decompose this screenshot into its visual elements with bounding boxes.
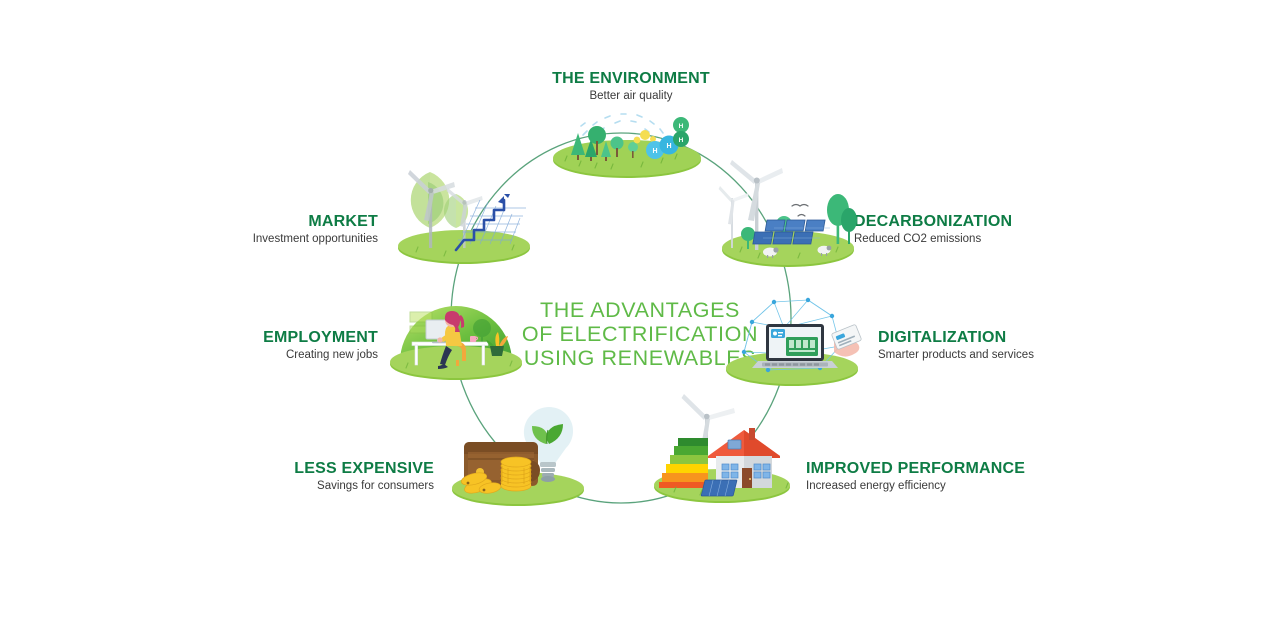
- label-digitalization: DIGITALIZATION Smarter products and serv…: [878, 328, 1034, 363]
- efficient-house-energy-rating-icon: [650, 388, 800, 508]
- label-less-expensive-title: LESS EXPENSIVE: [200, 459, 434, 478]
- label-improved-performance: IMPROVED PERFORMANCE Increased energy ef…: [806, 459, 1025, 494]
- label-digitalization-title: DIGITALIZATION: [878, 328, 1034, 347]
- scene-market: [392, 160, 542, 268]
- label-market-subtitle: Investment opportunities: [170, 232, 378, 247]
- label-less-expensive: LESS EXPENSIVE Savings for consumers: [200, 459, 434, 494]
- label-decarbonization-title: DECARBONIZATION: [854, 212, 1012, 231]
- person-at-desk-icon: [384, 284, 534, 386]
- label-improved-performance-title: IMPROVED PERFORMANCE: [806, 459, 1025, 478]
- infographic-canvas: THE ADVANTAGES OF ELECTRIFICATION USING …: [0, 0, 1280, 619]
- label-digitalization-subtitle: Smarter products and services: [878, 348, 1034, 363]
- scene-improved-performance: [650, 388, 800, 508]
- label-environment-title: THE ENVIRONMENT: [451, 69, 811, 88]
- svg-text:H: H: [679, 123, 684, 130]
- forest-hydrogen-scene-icon: H H H H: [545, 105, 710, 180]
- scene-employment: [384, 284, 534, 386]
- label-decarbonization-subtitle: Reduced CO2 emissions: [854, 232, 1012, 247]
- wind-turbine-solar-farm-icon: [718, 158, 858, 273]
- svg-text:H: H: [679, 137, 684, 144]
- wallet-coins-lightbulb-icon: [446, 400, 596, 510]
- label-market: MARKET Investment opportunities: [170, 212, 378, 247]
- scene-digitalization: [722, 288, 872, 388]
- label-employment: EMPLOYMENT Creating new jobs: [180, 328, 378, 363]
- wind-turbines-growth-chart-icon: [392, 160, 542, 268]
- label-improved-performance-subtitle: Increased energy efficiency: [806, 479, 1025, 494]
- scene-decarbonization: [718, 158, 858, 273]
- label-environment: THE ENVIRONMENT Better air quality: [451, 69, 811, 104]
- label-market-title: MARKET: [170, 212, 378, 231]
- scene-environment: H H H H: [545, 105, 710, 180]
- laptop-network-icon: [722, 288, 872, 388]
- label-employment-title: EMPLOYMENT: [180, 328, 378, 347]
- scene-less-expensive: [446, 400, 596, 510]
- label-employment-subtitle: Creating new jobs: [180, 348, 378, 363]
- label-environment-subtitle: Better air quality: [451, 89, 811, 104]
- svg-text:H: H: [652, 148, 657, 155]
- svg-text:H: H: [666, 143, 671, 150]
- label-decarbonization: DECARBONIZATION Reduced CO2 emissions: [854, 212, 1012, 247]
- label-less-expensive-subtitle: Savings for consumers: [200, 479, 434, 494]
